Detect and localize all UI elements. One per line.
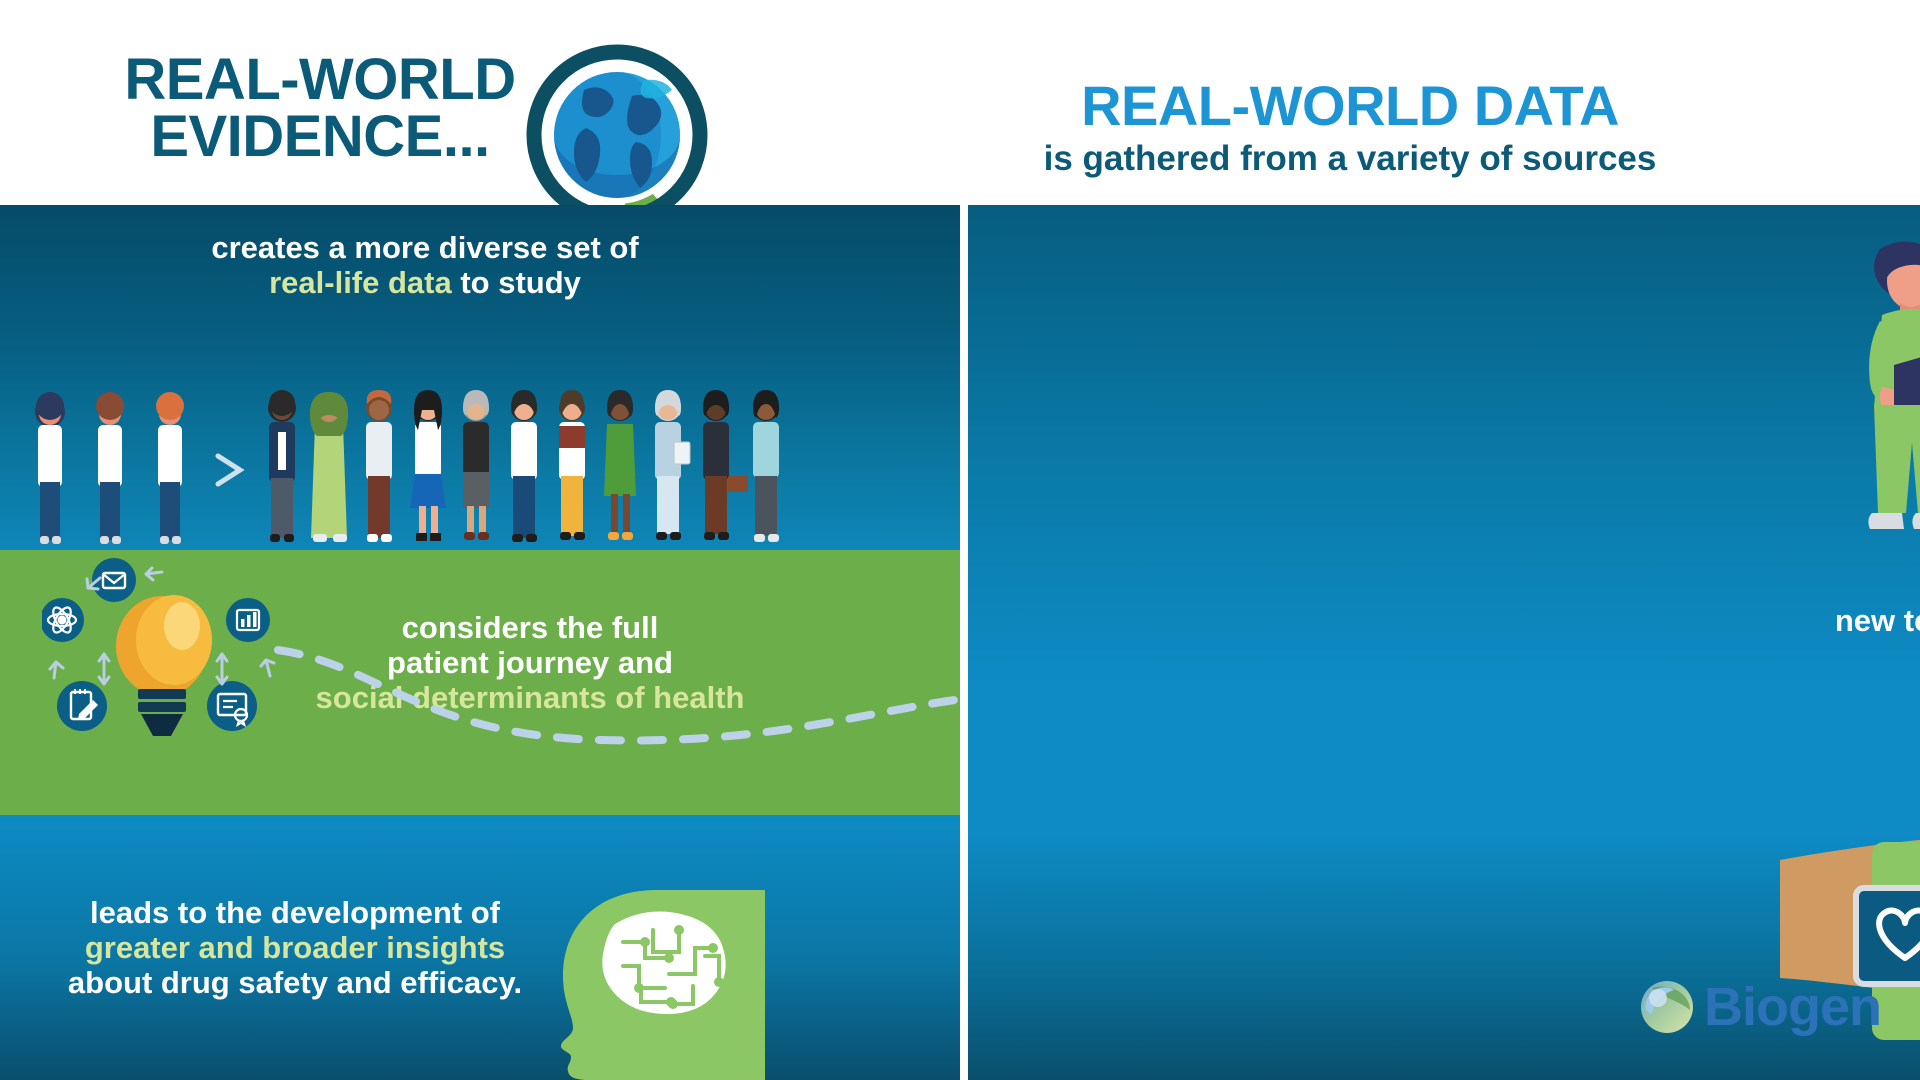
right-title: REAL-WORLD DATA: [860, 78, 1840, 134]
band-bottom-text: leads to the development of greater and …: [40, 895, 550, 1000]
band-bottom-line1: leads to the development of: [90, 895, 500, 930]
right-panel: electronic medical records hospital and …: [968, 205, 1920, 1080]
band-top-line1: creates a more diverse set of: [211, 230, 638, 265]
band-bottom-highlight: greater and broader insights: [85, 930, 505, 965]
band-top-text: creates a more diverse set of real-life …: [60, 230, 790, 300]
infographic-root: REAL-WORLD EVIDENCE...: [0, 0, 1920, 1080]
dashed-connector-path: [270, 640, 960, 760]
lightbulb-idea-icon: [42, 558, 282, 758]
person-with-laptop-illustration: [1830, 237, 1920, 582]
diverse-people-illustration: [0, 390, 960, 550]
band-insights: leads to the development of greater and …: [0, 815, 960, 1080]
right-subtitle: is gathered from a variety of sources: [860, 141, 1840, 178]
source-tech-line1: new technology such as mobile health app…: [1835, 603, 1920, 638]
band-top-line2-tail: to study: [452, 265, 581, 300]
source-new-technology: new technology such as mobile health app…: [1813, 603, 1920, 709]
biogen-sphere-icon: [1640, 980, 1694, 1034]
page-title-left: REAL-WORLD EVIDENCE...: [60, 52, 580, 166]
biogen-logo: Biogen: [1640, 968, 1900, 1046]
band-diverse-data: creates a more diverse set of real-life …: [0, 205, 960, 550]
panel-divider: [960, 205, 968, 1080]
band-patient-journey: considers the full patient journey and s…: [0, 550, 960, 815]
biogen-wordmark: Biogen: [1704, 980, 1881, 1034]
left-panel: creates a more diverse set of real-life …: [0, 205, 960, 1080]
head-brain-circuit-icon: [545, 890, 765, 1080]
left-title-line2: EVIDENCE...: [60, 109, 580, 166]
left-title-line1: REAL-WORLD: [124, 47, 515, 112]
band-bottom-line2: about drug safety and efficacy.: [68, 965, 522, 1000]
page-title-right: REAL-WORLD DATA is gathered from a varie…: [860, 78, 1840, 178]
band-top-highlight: real-life data: [269, 265, 452, 300]
